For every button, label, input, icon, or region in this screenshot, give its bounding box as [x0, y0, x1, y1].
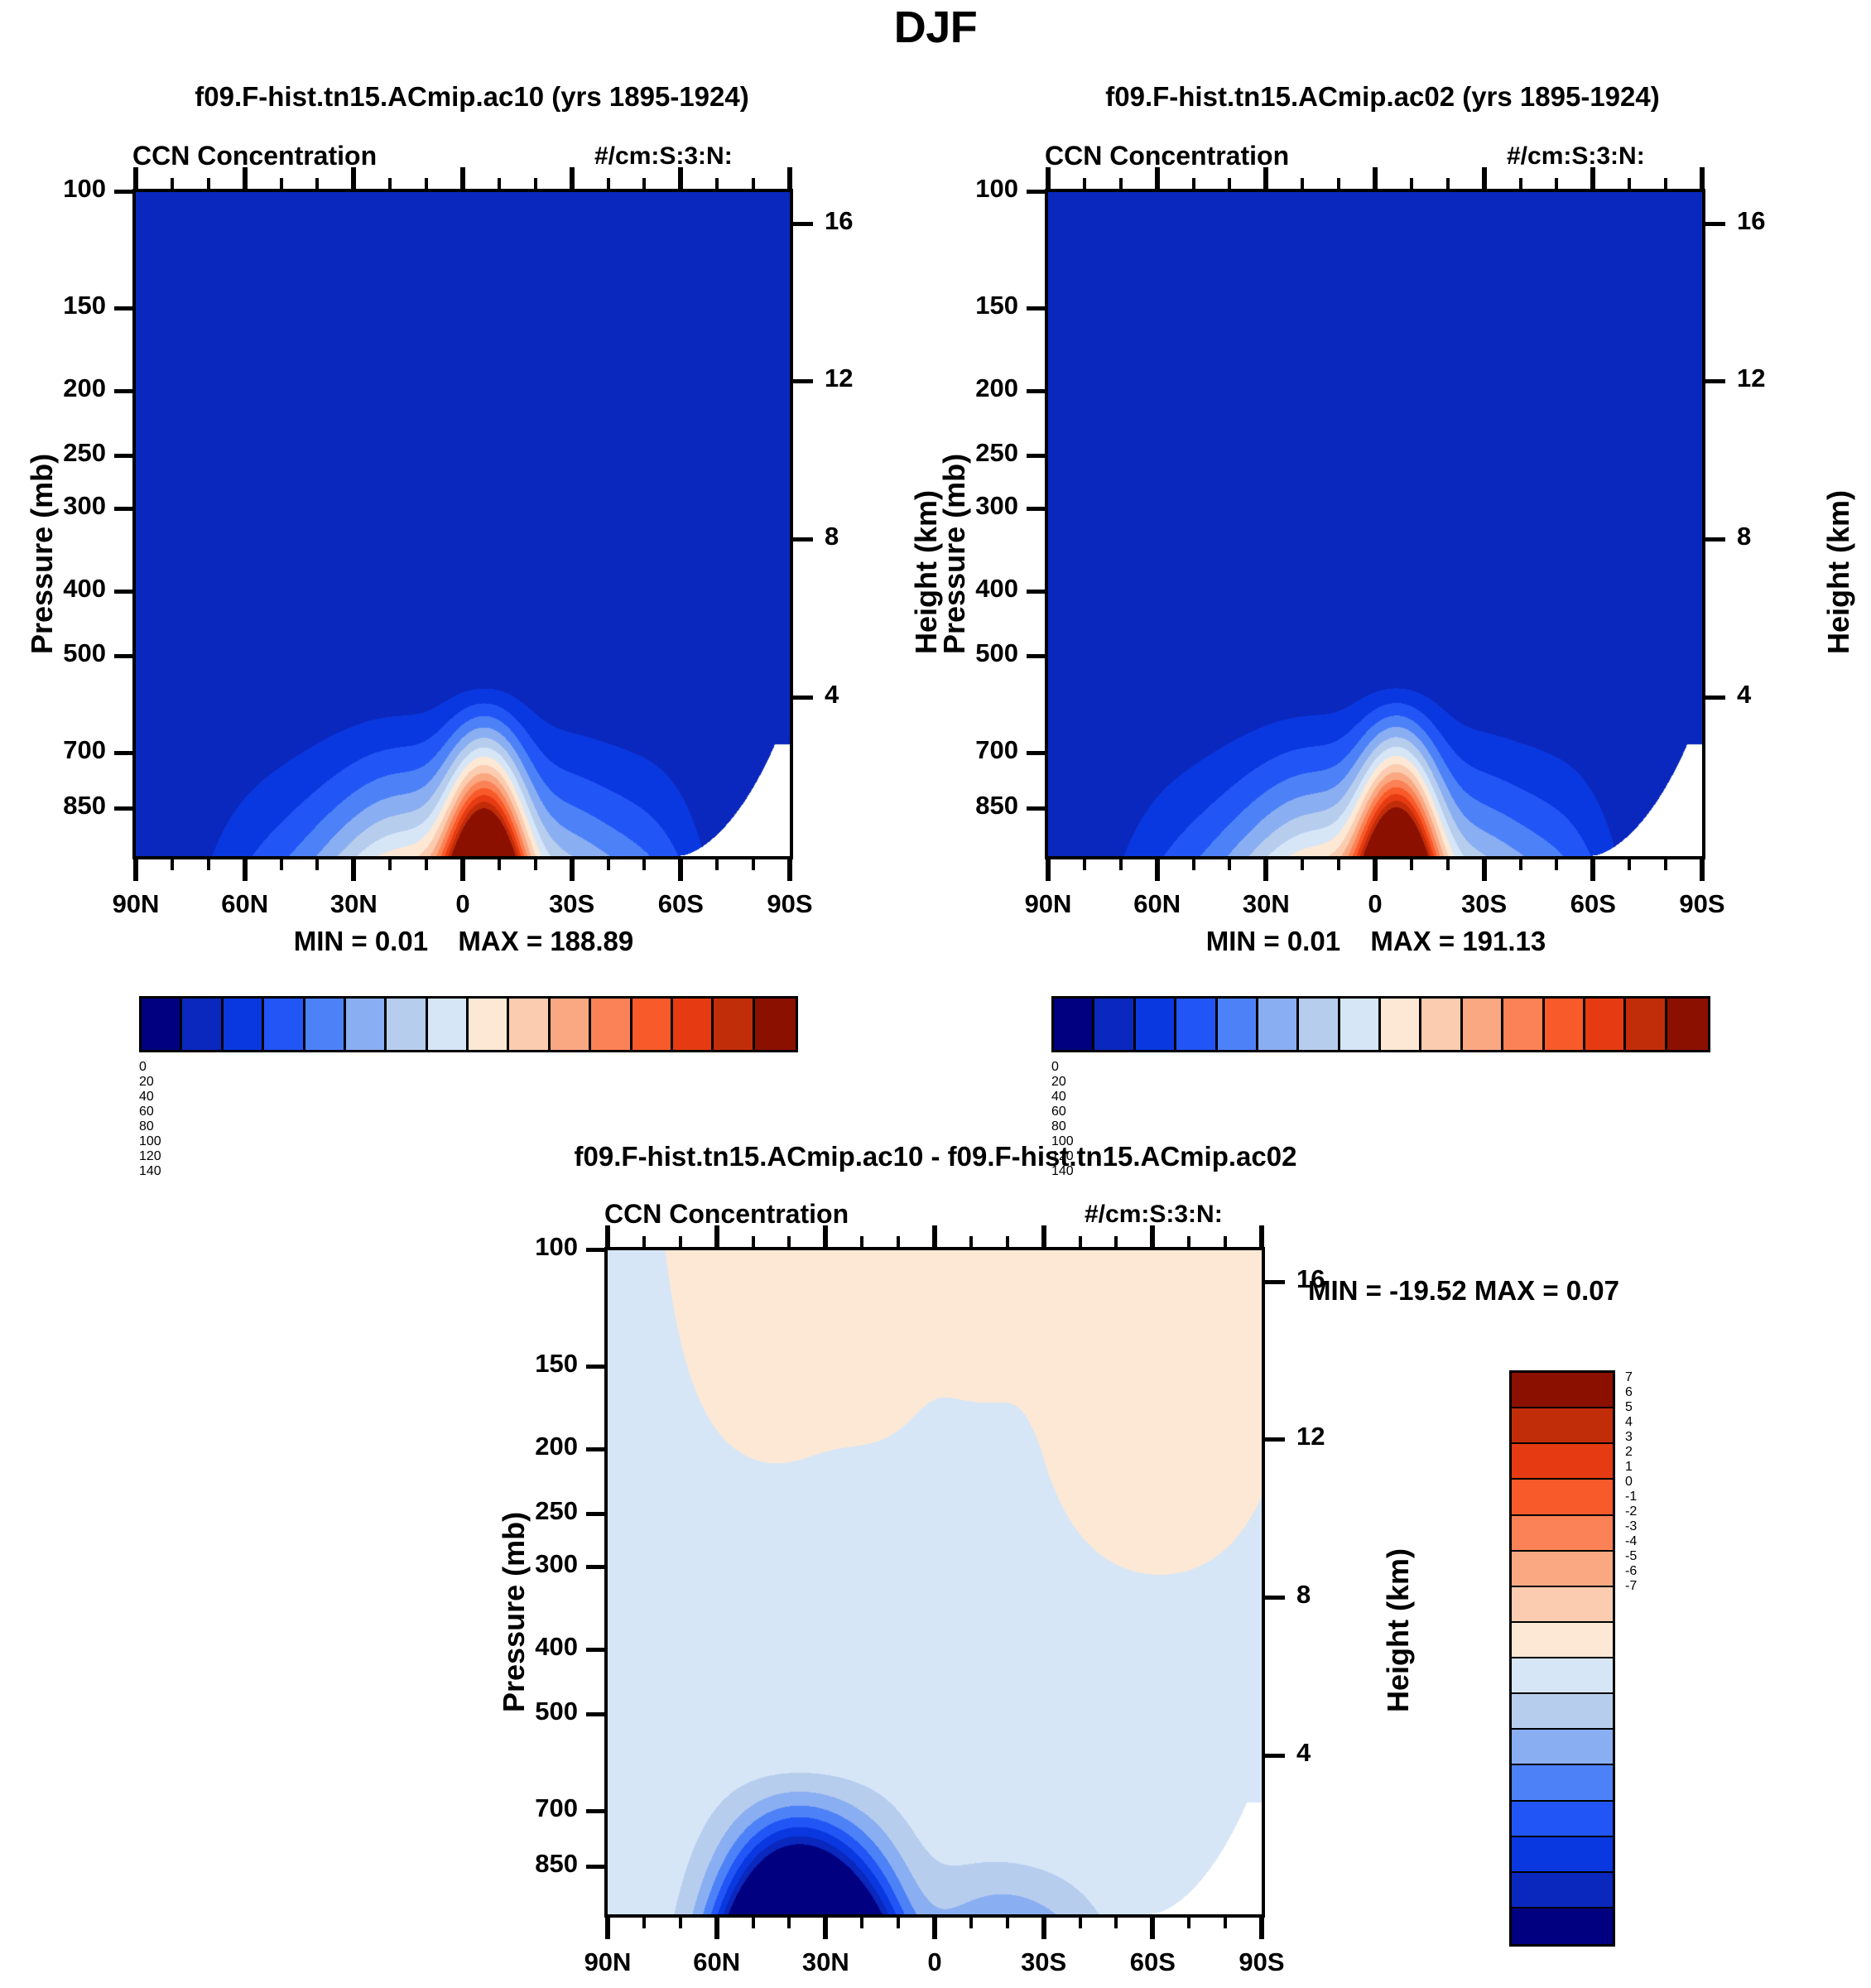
lat-major-tickmark [1263, 856, 1268, 881]
lat-top-tickmark [787, 167, 792, 192]
minmax-text-top-left: MIN = 0.01 MAX = 188.89 [132, 926, 795, 957]
lat-top-tickmark [1263, 167, 1268, 192]
pressure-tickmark [586, 1365, 608, 1369]
lat-top-tickmark [1119, 178, 1123, 192]
lat-minor-tickmark [534, 856, 537, 870]
pressure-tick-label: 300 [0, 491, 106, 521]
lat-top-tickmark [133, 167, 138, 192]
colorbar-tick-label: -1 [1625, 1490, 1716, 1504]
lat-major-tickmark [823, 1914, 828, 1939]
colorbar-cell[interactable] [755, 999, 796, 1050]
minmax-text-bottom-diff: MIN = -19.52 MAX = 0.07 [1308, 1275, 1619, 1307]
lat-tick-label: 90S [724, 889, 856, 919]
lat-minor-tickmark [1079, 1914, 1082, 1928]
colorbar-cell[interactable] [1512, 1837, 1613, 1873]
colorbar-cell[interactable] [673, 999, 714, 1050]
colorbar-tick-label: 0 [1051, 1060, 1705, 1075]
lat-top-tickmark [243, 167, 248, 192]
colorbar-cell[interactable] [551, 999, 591, 1050]
contour-plot-top-left[interactable] [132, 189, 793, 859]
lat-major-tickmark [1259, 1914, 1264, 1939]
colorbar-cell[interactable] [1463, 999, 1503, 1050]
lat-major-tickmark [460, 856, 465, 881]
pressure-tickmark [586, 1447, 608, 1451]
lat-minor-tickmark [642, 856, 646, 870]
pressure-tickmark [114, 751, 136, 755]
colorbar-cell[interactable] [1585, 999, 1626, 1050]
pressure-tick-label: 400 [0, 574, 106, 604]
lat-minor-tickmark [1301, 856, 1304, 870]
pressure-tick-label: 700 [899, 735, 1018, 765]
lat-major-tickmark [787, 856, 792, 881]
colorbar-bottom-diff[interactable] [1509, 1370, 1615, 1947]
colorbar-tick-label: 80 [139, 1119, 793, 1134]
pressure-tick-label: 150 [459, 1349, 578, 1379]
panel-var-label-top-right: CCN Concentration [1045, 141, 1289, 171]
pressure-tick-label: 500 [0, 638, 106, 668]
height-tickmark [1262, 1437, 1285, 1442]
pressure-tick-label: 400 [899, 574, 1018, 604]
lat-top-tickmark [1337, 178, 1340, 192]
lat-top-tickmark [1700, 167, 1705, 192]
lat-top-tickmark [752, 178, 755, 192]
pressure-tickmark [586, 1512, 608, 1516]
lat-minor-tickmark [752, 856, 755, 870]
pressure-tickmark [586, 1648, 608, 1652]
colorbar-tick-label: 3 [1625, 1430, 1716, 1445]
colorbar-cell[interactable] [591, 999, 632, 1050]
colorbar-cell[interactable] [1258, 999, 1299, 1050]
pressure-tick-label: 100 [459, 1232, 578, 1262]
lat-top-tickmark [1046, 167, 1051, 192]
lat-minor-tickmark [1083, 856, 1086, 870]
lat-minor-tickmark [1114, 1914, 1118, 1928]
lat-top-tickmark [207, 178, 210, 192]
pressure-tickmark [586, 1809, 608, 1813]
colorbar-cell[interactable] [1512, 1909, 1613, 1944]
height-tick-label: 8 [1296, 1580, 1363, 1610]
contour-plot-bottom-diff[interactable] [604, 1247, 1265, 1918]
height-tickmark [1702, 537, 1725, 542]
lat-major-tickmark [1590, 856, 1595, 881]
colorbar-cell[interactable] [346, 999, 387, 1050]
pressure-tick-label: 700 [459, 1793, 578, 1823]
colorbar-tick-label: 4 [1625, 1415, 1716, 1430]
pressure-tick-label: 200 [459, 1432, 578, 1461]
lat-minor-tickmark [1519, 856, 1522, 870]
lat-top-tickmark [171, 178, 174, 192]
pressure-tickmark [586, 1712, 608, 1716]
colorbar-tick-label: -2 [1625, 1504, 1716, 1519]
lat-top-tickmark [1259, 1225, 1264, 1250]
lat-top-tickmark [605, 1225, 610, 1250]
lat-top-tickmark [351, 167, 356, 192]
lat-minor-tickmark [315, 856, 319, 870]
lat-minor-tickmark [1228, 856, 1231, 870]
lat-minor-tickmark [207, 856, 210, 870]
colorbar-tick-label: 40 [139, 1090, 793, 1105]
lat-minor-tickmark [897, 1914, 900, 1928]
colorbar-cell[interactable] [1512, 1587, 1613, 1623]
height-tickmark [1262, 1280, 1285, 1284]
height-tickmark [790, 379, 813, 383]
lat-tick-label: 90S [1636, 889, 1768, 919]
colorbar-tick-label: 0 [1625, 1475, 1716, 1490]
pressure-tick-label: 500 [899, 638, 1018, 668]
colorbar-cell[interactable] [1512, 1444, 1613, 1480]
colorbar-cell[interactable] [1512, 1658, 1613, 1694]
pressure-tickmark [1027, 806, 1048, 811]
pressure-tick-label: 150 [899, 291, 1018, 320]
colorbar-cell[interactable] [182, 999, 223, 1050]
pressure-tick-label: 150 [0, 291, 106, 320]
pressure-tick-label: 250 [899, 438, 1018, 468]
lat-top-tickmark [1410, 178, 1413, 192]
lat-minor-tickmark [171, 856, 174, 870]
lat-top-tickmark [315, 178, 319, 192]
pressure-tickmark [114, 454, 136, 458]
lat-top-tickmark [388, 178, 392, 192]
colorbar-tick-label: 40 [1051, 1090, 1705, 1105]
height-tickmark [1702, 696, 1725, 700]
pressure-tick-label: 300 [459, 1549, 578, 1579]
height-tick-label: 4 [1296, 1738, 1363, 1768]
height-tickmark [790, 537, 813, 542]
pressure-tickmark [114, 507, 136, 511]
height-tick-label: 12 [825, 363, 891, 393]
y-axis-label-bottom-diff: Pressure (mb) [497, 1512, 531, 1712]
lat-top-tickmark [1192, 178, 1195, 192]
colorbar-cell[interactable] [1218, 999, 1258, 1050]
lat-minor-tickmark [969, 1914, 973, 1928]
lat-top-tickmark [570, 167, 575, 192]
figure-title: DJF [0, 2, 1871, 53]
lat-top-tickmark [823, 1225, 828, 1250]
pressure-tick-label: 200 [0, 373, 106, 403]
lat-top-tickmark [534, 178, 537, 192]
lat-minor-tickmark [1006, 1914, 1009, 1928]
lat-minor-tickmark [679, 1914, 682, 1928]
colorbar-cell[interactable] [1512, 1408, 1613, 1444]
lat-major-tickmark [714, 1914, 719, 1939]
lat-minor-tickmark [787, 1914, 791, 1928]
colorbar-cell[interactable] [305, 999, 346, 1050]
lat-top-tickmark [1301, 178, 1304, 192]
lat-top-tickmark [1114, 1236, 1118, 1250]
lat-top-tickmark [642, 178, 646, 192]
lat-major-tickmark [1046, 856, 1051, 881]
panel-units-label-bottom-diff: #/cm:S:3:N: [1085, 1201, 1223, 1229]
pressure-tick-label: 250 [459, 1496, 578, 1526]
colorbar-tick-label: 20 [1051, 1075, 1705, 1090]
height-tick-label: 4 [1737, 680, 1803, 710]
lat-top-tickmark [1079, 1236, 1082, 1250]
panel-var-label-bottom-diff: CCN Concentration [604, 1199, 849, 1230]
colorbar-tick-label: 60 [1051, 1105, 1705, 1119]
lat-minor-tickmark [607, 856, 610, 870]
colorbar-cell[interactable] [1136, 999, 1176, 1050]
lat-minor-tickmark [280, 856, 283, 870]
max-text-top-left: MAX = 188.89 [458, 926, 633, 956]
colorbar-cell[interactable] [1667, 999, 1708, 1050]
lat-top-tickmark [897, 1236, 900, 1250]
height-tick-label: 8 [825, 522, 891, 551]
lat-major-tickmark [1041, 1914, 1046, 1939]
lat-top-tickmark [1150, 1225, 1155, 1250]
pressure-tick-label: 100 [899, 174, 1018, 204]
colorbar-cell[interactable] [509, 999, 550, 1050]
lat-major-tickmark [1155, 856, 1160, 881]
colorbar-tick-label: 80 [1051, 1119, 1705, 1134]
height-tickmark [1702, 222, 1725, 226]
colorbar-cell[interactable] [1512, 1802, 1613, 1837]
pressure-tickmark [1027, 751, 1048, 755]
colorbar-cell[interactable] [264, 999, 305, 1050]
lat-top-tickmark [715, 178, 719, 192]
height-tick-label: 4 [825, 680, 891, 710]
min-text-top-right: MIN = 0.01 [1206, 926, 1340, 956]
lat-minor-tickmark [425, 856, 428, 870]
lat-major-tickmark [133, 856, 138, 881]
lat-minor-tickmark [388, 856, 392, 870]
pressure-tickmark [586, 1865, 608, 1869]
pressure-tick-label: 850 [459, 1849, 578, 1879]
height-tick-label: 16 [825, 206, 891, 236]
lat-top-tickmark [969, 1236, 973, 1250]
lat-top-tickmark [1590, 167, 1595, 192]
height-tickmark [790, 222, 813, 226]
lat-top-tickmark [460, 167, 465, 192]
lat-major-tickmark [932, 1914, 937, 1939]
lat-top-tickmark [1628, 178, 1631, 192]
colorbar-tick-label: 7 [1625, 1370, 1716, 1385]
height-tick-label: 8 [1737, 522, 1803, 551]
pressure-tick-label: 400 [459, 1632, 578, 1662]
colorbar-tick-label: 60 [139, 1105, 793, 1119]
pressure-tickmark [1027, 590, 1048, 594]
colorbar-tick-label: 6 [1625, 1385, 1716, 1400]
lat-major-tickmark [605, 1914, 610, 1939]
panel-title-top-right: f09.F-hist.tn15.ACmip.ac02 (yrs 1895-192… [944, 81, 1821, 113]
lat-top-tickmark [1006, 1236, 1009, 1250]
lat-major-tickmark [1482, 856, 1487, 881]
minmax-text-top-right: MIN = 0.01 MAX = 191.13 [1045, 926, 1707, 957]
colorbar-tick-label: 1 [1625, 1460, 1716, 1475]
lat-top-tickmark [787, 1236, 791, 1250]
lat-minor-tickmark [642, 1914, 646, 1928]
lat-tick-label: 90S [1195, 1947, 1328, 1977]
colorbar-tick-label: -5 [1625, 1549, 1716, 1564]
lat-top-tickmark [1373, 167, 1378, 192]
lat-major-tickmark [1373, 856, 1378, 881]
colorbar-cell[interactable] [1512, 1765, 1613, 1801]
lat-minor-tickmark [1187, 1914, 1190, 1928]
lat-top-tickmark [1482, 167, 1487, 192]
pressure-tickmark [114, 306, 136, 310]
colorbar-cell[interactable] [1176, 999, 1217, 1050]
lat-top-tickmark [642, 1236, 646, 1250]
panel-units-label-top-right: #/cm:S:3:N: [1507, 142, 1645, 171]
lat-top-tickmark [280, 178, 283, 192]
colorbar-cell[interactable] [714, 999, 754, 1050]
min-text-top-left: MIN = 0.01 [294, 926, 428, 956]
max-text-top-right: MAX = 191.13 [1370, 926, 1546, 956]
pressure-tick-label: 500 [459, 1697, 578, 1726]
pressure-tickmark [114, 806, 136, 811]
pressure-tickmark [1027, 306, 1048, 310]
height-tickmark [790, 696, 813, 700]
pressure-tick-label: 850 [0, 791, 106, 821]
colorbar-cell[interactable] [428, 999, 469, 1050]
lat-top-tickmark [1555, 178, 1558, 192]
colorbar-tick-label: 0 [139, 1060, 793, 1075]
height-tickmark [1262, 1596, 1285, 1600]
colorbar-labels-top-right: 020406080100120140 [1051, 1060, 1705, 1093]
colorbar-cell[interactable] [1512, 1373, 1613, 1408]
colorbar-tick-label: 2 [1625, 1445, 1716, 1460]
lat-major-tickmark [351, 856, 356, 881]
lat-top-tickmark [425, 178, 428, 192]
lat-major-tickmark [1700, 856, 1705, 881]
colorbar-cell[interactable] [1512, 1873, 1613, 1909]
pressure-tick-label: 300 [899, 491, 1018, 521]
pressure-tick-label: 700 [0, 735, 106, 765]
contour-plot-top-right[interactable] [1045, 189, 1705, 859]
lat-minor-tickmark [1628, 856, 1631, 870]
lat-top-tickmark [1187, 1236, 1190, 1250]
colorbar-cell[interactable] [632, 999, 673, 1050]
colorbar-cell[interactable] [1381, 999, 1421, 1050]
lat-minor-tickmark [1446, 856, 1450, 870]
colorbar-cell[interactable] [1094, 999, 1135, 1050]
colorbar-labels-top-left: 020406080100120140 [139, 1060, 793, 1093]
pressure-tickmark [1027, 507, 1048, 511]
lat-major-tickmark [1150, 1914, 1155, 1939]
pressure-tick-label: 100 [0, 174, 106, 204]
lat-top-tickmark [752, 1236, 755, 1250]
height-tickmark [1702, 379, 1725, 383]
pressure-tickmark [1027, 454, 1048, 458]
pressure-tickmark [586, 1565, 608, 1569]
lat-top-tickmark [498, 178, 501, 192]
y-axis-right-label-bottom-diff: Height (km) [1381, 1548, 1416, 1712]
height-tick-label: 12 [1296, 1422, 1363, 1451]
colorbar-cell[interactable] [1512, 1480, 1613, 1515]
lat-minor-tickmark [1337, 856, 1340, 870]
lat-top-tickmark [679, 1236, 682, 1250]
colorbar-tick-label: -7 [1625, 1579, 1716, 1594]
colorbar-cell[interactable] [1299, 999, 1340, 1050]
colorbar-cell[interactable] [1421, 999, 1462, 1050]
pressure-tickmark [1027, 654, 1048, 658]
pressure-tickmark [114, 389, 136, 393]
colorbar-cell[interactable] [1512, 1730, 1613, 1765]
lat-major-tickmark [243, 856, 248, 881]
colorbar-cell[interactable] [1512, 1552, 1613, 1587]
lat-minor-tickmark [1119, 856, 1123, 870]
lat-top-tickmark [1228, 178, 1231, 192]
lat-top-tickmark [714, 1225, 719, 1250]
y-axis-label-top-right: Pressure (mb) [937, 454, 972, 654]
colorbar-cell[interactable] [387, 999, 427, 1050]
colorbar-cell[interactable] [224, 999, 264, 1050]
colorbar-cell[interactable] [1054, 999, 1094, 1050]
y-axis-label-top-left: Pressure (mb) [25, 454, 60, 654]
lat-top-tickmark [1155, 167, 1160, 192]
colorbar-cell[interactable] [1545, 999, 1585, 1050]
lat-minor-tickmark [715, 856, 719, 870]
panel-title-bottom-diff: f09.F-hist.tn15.ACmip.ac10 - f09.F-hist.… [356, 1141, 1515, 1172]
lat-minor-tickmark [498, 856, 501, 870]
lat-top-tickmark [678, 167, 683, 192]
colorbar-cell[interactable] [142, 999, 182, 1050]
panel-units-label-top-left: #/cm:S:3:N: [594, 142, 733, 171]
lat-top-tickmark [1446, 178, 1450, 192]
lat-top-tickmark [932, 1225, 937, 1250]
lat-top-tickmark [1519, 178, 1522, 192]
pressure-tick-label: 850 [899, 791, 1018, 821]
colorbar-tick-label: -3 [1625, 1519, 1716, 1534]
lat-top-tickmark [860, 1236, 863, 1250]
pressure-tick-label: 200 [899, 373, 1018, 403]
colorbar-tick-label: -4 [1625, 1534, 1716, 1549]
colorbar-tick-label: 5 [1625, 1400, 1716, 1415]
colorbar-tick-label: -6 [1625, 1564, 1716, 1579]
lat-major-tickmark [678, 856, 683, 881]
lat-major-tickmark [570, 856, 575, 881]
pressure-tick-label: 250 [0, 438, 106, 468]
lat-top-tickmark [1083, 178, 1086, 192]
colorbar-top-right[interactable] [1051, 996, 1710, 1052]
colorbar-tick-label: 20 [139, 1075, 793, 1090]
colorbar-top-left[interactable] [139, 996, 798, 1052]
height-tick-label: 16 [1737, 206, 1803, 236]
colorbar-cell[interactable] [1626, 999, 1667, 1050]
colorbar-cell[interactable] [1512, 1623, 1613, 1658]
panel-title-top-left: f09.F-hist.tn15.ACmip.ac10 (yrs 1895-192… [33, 81, 911, 113]
colorbar-cell[interactable] [469, 999, 509, 1050]
lat-minor-tickmark [1224, 1914, 1227, 1928]
lat-minor-tickmark [1192, 856, 1195, 870]
lat-top-tickmark [1041, 1225, 1046, 1250]
colorbar-labels-bottom-diff: 76543210-1-2-3-4-5-6-7 [1625, 1370, 1716, 1942]
height-tickmark [1262, 1754, 1285, 1758]
y-axis-right-label-top-right: Height (km) [1821, 490, 1856, 654]
pressure-tickmark [114, 654, 136, 658]
height-tick-label: 12 [1737, 363, 1803, 393]
panel-var-label-top-left: CCN Concentration [132, 141, 377, 171]
lat-minor-tickmark [752, 1914, 755, 1928]
colorbar-cell[interactable] [1512, 1694, 1613, 1730]
pressure-tickmark [114, 590, 136, 594]
colorbar-cell[interactable] [1503, 999, 1544, 1050]
colorbar-cell[interactable] [1340, 999, 1381, 1050]
lat-top-tickmark [607, 178, 610, 192]
lat-minor-tickmark [860, 1914, 863, 1928]
lat-minor-tickmark [1555, 856, 1558, 870]
lat-minor-tickmark [1410, 856, 1413, 870]
lat-minor-tickmark [1664, 856, 1667, 870]
colorbar-cell[interactable] [1512, 1516, 1613, 1552]
lat-top-tickmark [1664, 178, 1667, 192]
pressure-tickmark [1027, 389, 1048, 393]
lat-top-tickmark [1224, 1236, 1227, 1250]
